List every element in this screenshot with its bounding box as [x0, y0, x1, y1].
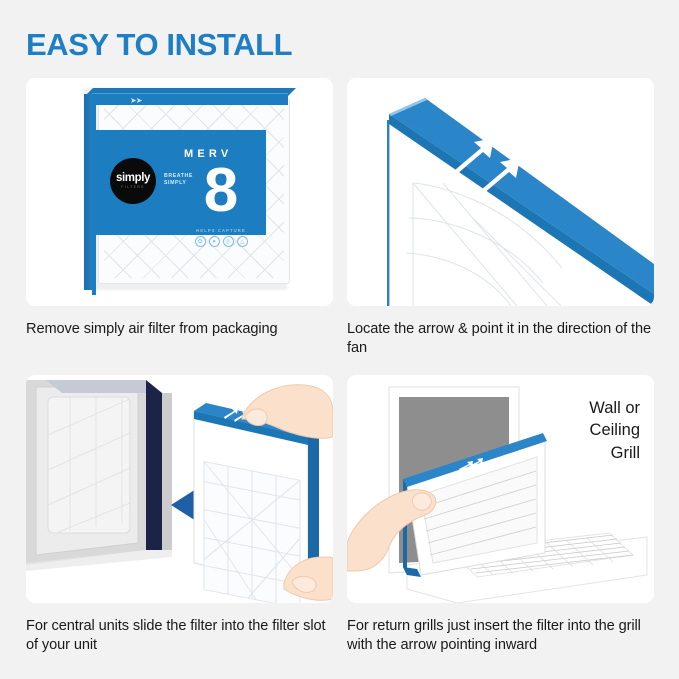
step-4: Wall or Ceiling Grill For return grills … — [347, 375, 654, 656]
helps-capture-label: HELPS CAPTURE — [184, 228, 258, 233]
dust-icon: ● — [209, 236, 220, 247]
step-3: For central units slide the filter into … — [26, 375, 333, 656]
package-sleeve: ➤➤ simply FILTERS BREATHE SIMPLY — [92, 93, 288, 295]
sleeve-top-band: ➤➤ — [92, 93, 288, 105]
filter-edge-diagram — [347, 78, 654, 306]
capture-icon-row: ✿ ● ◎ △ — [184, 236, 258, 247]
package-illustration: ➤➤ simply FILTERS BREATHE SIMPLY — [26, 78, 333, 306]
step-2-card — [347, 78, 654, 306]
filter-slot-diagram — [26, 375, 333, 603]
lint-icon: ◎ — [223, 236, 234, 247]
step-1-card: ➤➤ simply FILTERS BREATHE SIMPLY — [26, 78, 333, 306]
sleeve-label-band: simply FILTERS BREATHE SIMPLY MERV 8 HEL… — [92, 130, 266, 235]
step-1: ➤➤ simply FILTERS BREATHE SIMPLY — [26, 78, 333, 339]
pollen-icon: ✿ — [195, 236, 206, 247]
step-2-caption: Locate the arrow & point it in the direc… — [347, 320, 654, 359]
wall-or-ceiling-grill-label: Wall or Ceiling Grill — [589, 397, 640, 464]
merv-rating-value: 8 — [184, 155, 258, 227]
step-4-card: Wall or Ceiling Grill — [347, 375, 654, 603]
brand-name: simply — [116, 173, 150, 184]
step-3-card — [26, 375, 333, 603]
page-title: EASY TO INSTALL — [26, 27, 292, 63]
step-3-caption: For central units slide the filter into … — [26, 617, 333, 656]
brand-subtitle: FILTERS — [121, 185, 145, 189]
mold-icon: △ — [237, 236, 248, 247]
arrow-closeup-illustration — [347, 78, 654, 306]
step-1-caption: Remove simply air filter from packaging — [26, 320, 333, 339]
airflow-arrows-icon: ➤➤ — [130, 96, 141, 105]
infographic-page: EASY TO INSTALL ➤➤ — [0, 0, 679, 679]
brand-logo: simply FILTERS — [110, 158, 156, 204]
step-2: Locate the arrow & point it in the direc… — [347, 78, 654, 359]
step-4-caption: For return grills just insert the filter… — [347, 617, 654, 656]
